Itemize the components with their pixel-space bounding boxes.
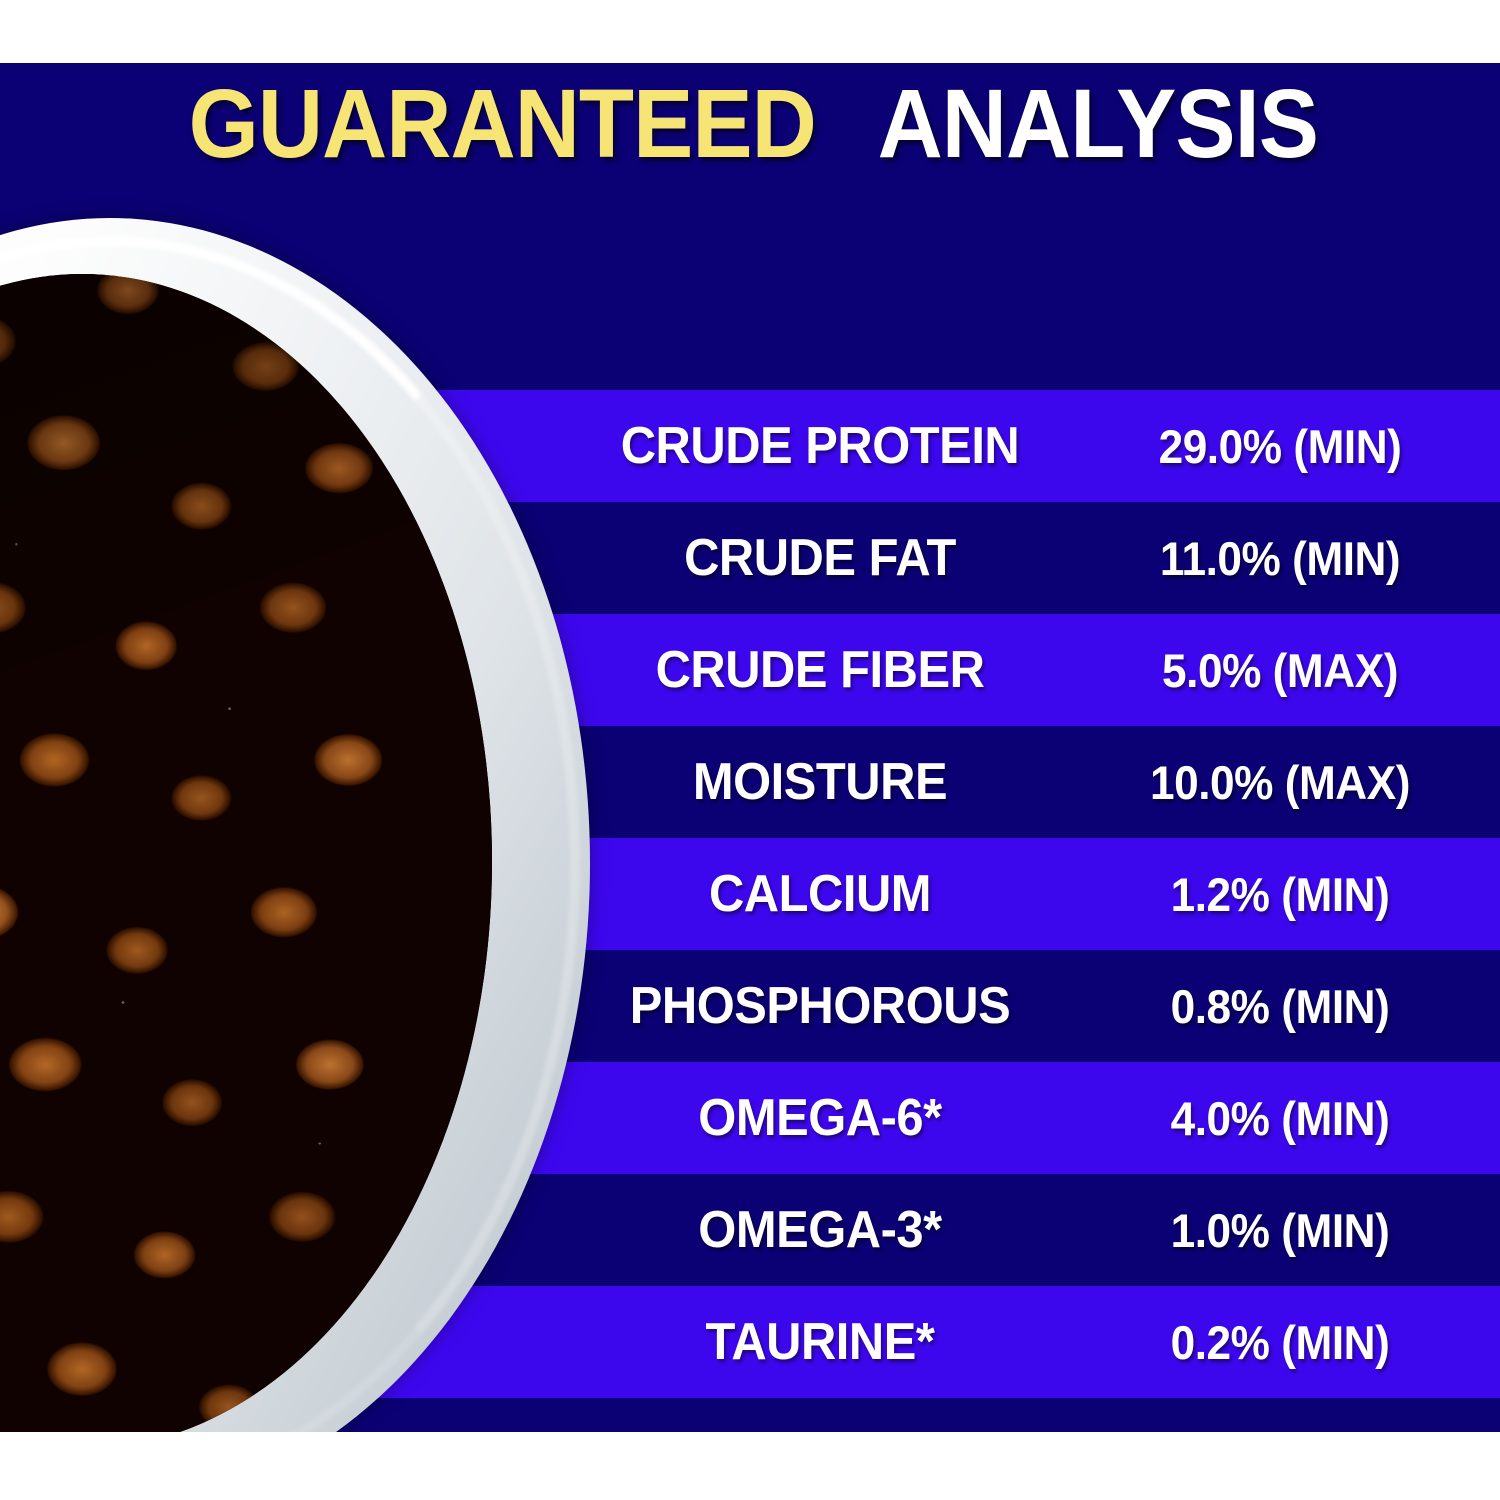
page-title: GUARANTEEDANALYSIS (0, 75, 1500, 172)
table-row: PHOSPHOROUS0.8% (MIN) (560, 950, 1500, 1062)
nutrient-label: CRUDE FAT (576, 532, 1065, 584)
nutrient-value: 1.0% (MIN) (1092, 1207, 1468, 1254)
nutrient-value: 11.0% (MIN) (1092, 535, 1468, 582)
table-row: OMEGA-6*4.0% (MIN) (560, 1062, 1500, 1174)
nutrient-value: 0.2% (MIN) (1092, 1319, 1468, 1366)
nutrient-value: 4.0% (MIN) (1092, 1095, 1468, 1142)
nutrient-value: 40 MG/KG (MIN) (1092, 1432, 1468, 1433)
table-row: CRUDE FIBER5.0% (MAX) (560, 614, 1500, 726)
nutrient-label: CALCIUM (576, 868, 1065, 920)
table-row: MOISTURE10.0% (MAX) (560, 726, 1500, 838)
nutrient-value: 5.0% (MAX) (1092, 647, 1468, 694)
title-word-analysis: ANALYSIS (878, 75, 1318, 172)
table-row: CRUDE PROTEIN29.0% (MIN) (560, 390, 1500, 502)
navy-background-panel: GUARANTEEDANALYSIS CRUDE PROTEIN29.0% (M… (0, 63, 1500, 1432)
nutrient-value: 29.0% (MIN) (1092, 423, 1468, 470)
nutrient-value: 1.2% (MIN) (1092, 871, 1468, 918)
table-row: OMEGA-3*1.0% (MIN) (560, 1174, 1500, 1286)
table-row: L-CARNITINE*40 MG/KG (MIN) (560, 1398, 1500, 1432)
nutrient-label: PHOSPHOROUS (576, 980, 1065, 1032)
table-row: CRUDE FAT11.0% (MIN) (560, 502, 1500, 614)
guaranteed-analysis-panel: GUARANTEEDANALYSIS CRUDE PROTEIN29.0% (M… (0, 0, 1500, 1500)
table-row: TAURINE*0.2% (MIN) (560, 1286, 1500, 1398)
nutrient-label: OMEGA-6* (576, 1092, 1065, 1144)
guaranteed-analysis-table: CRUDE PROTEIN29.0% (MIN)CRUDE FAT11.0% (… (0, 327, 1500, 1432)
nutrient-label: CRUDE FIBER (576, 644, 1065, 696)
nutrient-label: L-CARNITINE* (576, 1429, 1065, 1432)
nutrient-value: 10.0% (MAX) (1092, 759, 1468, 806)
title-word-guaranteed: GUARANTEED (189, 75, 816, 172)
table-row: CALCIUM1.2% (MIN) (560, 838, 1500, 950)
nutrient-label: CRUDE PROTEIN (576, 420, 1065, 472)
nutrient-label: OMEGA-3* (576, 1204, 1065, 1256)
nutrient-label: MOISTURE (576, 756, 1065, 808)
nutrient-label: TAURINE* (576, 1316, 1065, 1368)
nutrient-value: 0.8% (MIN) (1092, 983, 1468, 1030)
